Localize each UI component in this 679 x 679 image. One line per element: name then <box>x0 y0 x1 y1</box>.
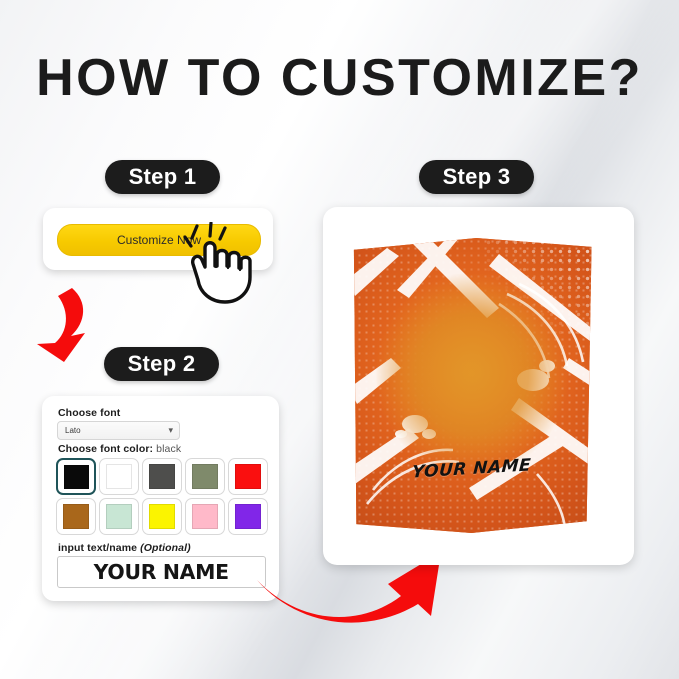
font-select-value: Lato <box>65 422 81 439</box>
name-input-value: YOUR NAME <box>94 560 229 584</box>
color-swatch-fill <box>149 464 175 489</box>
pointing-hand-icon <box>175 222 281 304</box>
selected-color-name: black <box>156 443 181 455</box>
color-swatch-red[interactable] <box>228 458 268 495</box>
basketball-icon <box>410 312 533 435</box>
color-swatch-brown[interactable] <box>56 498 96 535</box>
input-label-optional: (Optional) <box>140 542 191 554</box>
color-swatch-fill <box>192 464 218 489</box>
color-swatch-fill <box>149 504 175 529</box>
choose-font-color-text: Choose font color: <box>58 443 153 455</box>
name-text-input[interactable]: YOUR NAME <box>57 556 266 588</box>
step-badge-3: Step 3 <box>419 160 534 194</box>
font-color-swatch-grid <box>56 458 268 535</box>
color-swatch-fill <box>235 504 261 529</box>
step-badge-2: Step 2 <box>104 347 219 381</box>
choose-font-label: Choose font <box>58 407 120 419</box>
step2-form-card: Choose font Lato ▾ Choose font color: bl… <box>42 396 279 601</box>
color-swatch-fill <box>63 504 89 529</box>
color-swatch-mint[interactable] <box>99 498 139 535</box>
color-swatch-fill <box>64 465 89 489</box>
input-text-name-label: input text/name (Optional) <box>58 542 191 554</box>
color-swatch-fill <box>192 504 218 529</box>
font-select-dropdown[interactable]: Lato ▾ <box>57 421 180 440</box>
chevron-down-icon: ▾ <box>168 422 173 438</box>
color-swatch-white[interactable] <box>99 458 139 495</box>
step-badge-1: Step 1 <box>105 160 220 194</box>
color-swatch-pink[interactable] <box>185 498 225 535</box>
page-title: HOW TO CUSTOMIZE? <box>0 48 679 108</box>
color-swatch-black[interactable] <box>56 458 96 495</box>
blanket-surface: YOUR NAME <box>349 238 594 533</box>
input-label-text: input text/name <box>58 542 140 554</box>
color-swatch-dark-gray[interactable] <box>142 458 182 495</box>
product-blanket: YOUR NAME <box>349 238 594 533</box>
page-root: HOW TO CUSTOMIZE? Step 1 Customize Now S… <box>0 0 679 679</box>
step3-product-card: YOUR NAME <box>323 207 634 565</box>
color-swatch-yellow[interactable] <box>142 498 182 535</box>
color-swatch-sage-green[interactable] <box>185 458 225 495</box>
color-swatch-purple[interactable] <box>228 498 268 535</box>
color-swatch-fill <box>106 464 132 489</box>
color-swatch-fill <box>235 464 261 489</box>
color-swatch-fill <box>106 504 132 529</box>
choose-font-color-label: Choose font color: black <box>58 443 181 455</box>
